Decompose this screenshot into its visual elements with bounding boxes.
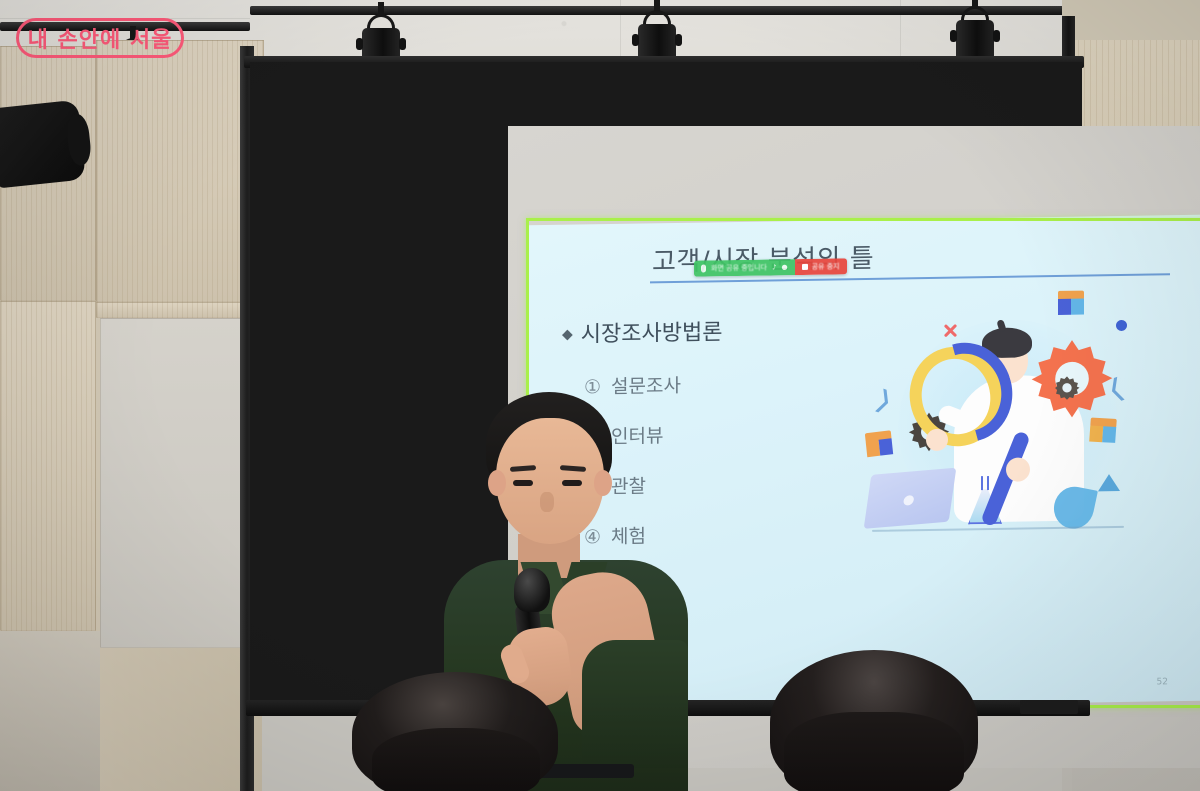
wood-panel (96, 40, 264, 302)
presenter-eye (513, 480, 533, 486)
wood-panel (96, 302, 264, 318)
wall-speaker (0, 100, 86, 189)
watermark: 내 손안에 서울 (16, 18, 184, 58)
presenter-eye (562, 480, 582, 486)
wood-panel (0, 301, 96, 631)
audience-member-right (770, 650, 978, 791)
wall-inset-panel (100, 318, 260, 648)
presenter-ear (594, 470, 612, 496)
screen-foot (1020, 700, 1078, 714)
audience-member-left (352, 672, 558, 791)
presenter-nose (540, 492, 554, 512)
microphone-head-icon (514, 568, 550, 612)
watermark-text: 내 손안에 서울 (28, 22, 173, 54)
lower-left-wall (0, 631, 100, 791)
lecture-room-scene: 고객/시장 분석의 틀 ◆시장조사방법론 ①설문조사 ②인터뷰 ③관찰 (0, 0, 1200, 791)
presenter-ear (488, 470, 506, 496)
presenter-sleeve (582, 640, 688, 768)
